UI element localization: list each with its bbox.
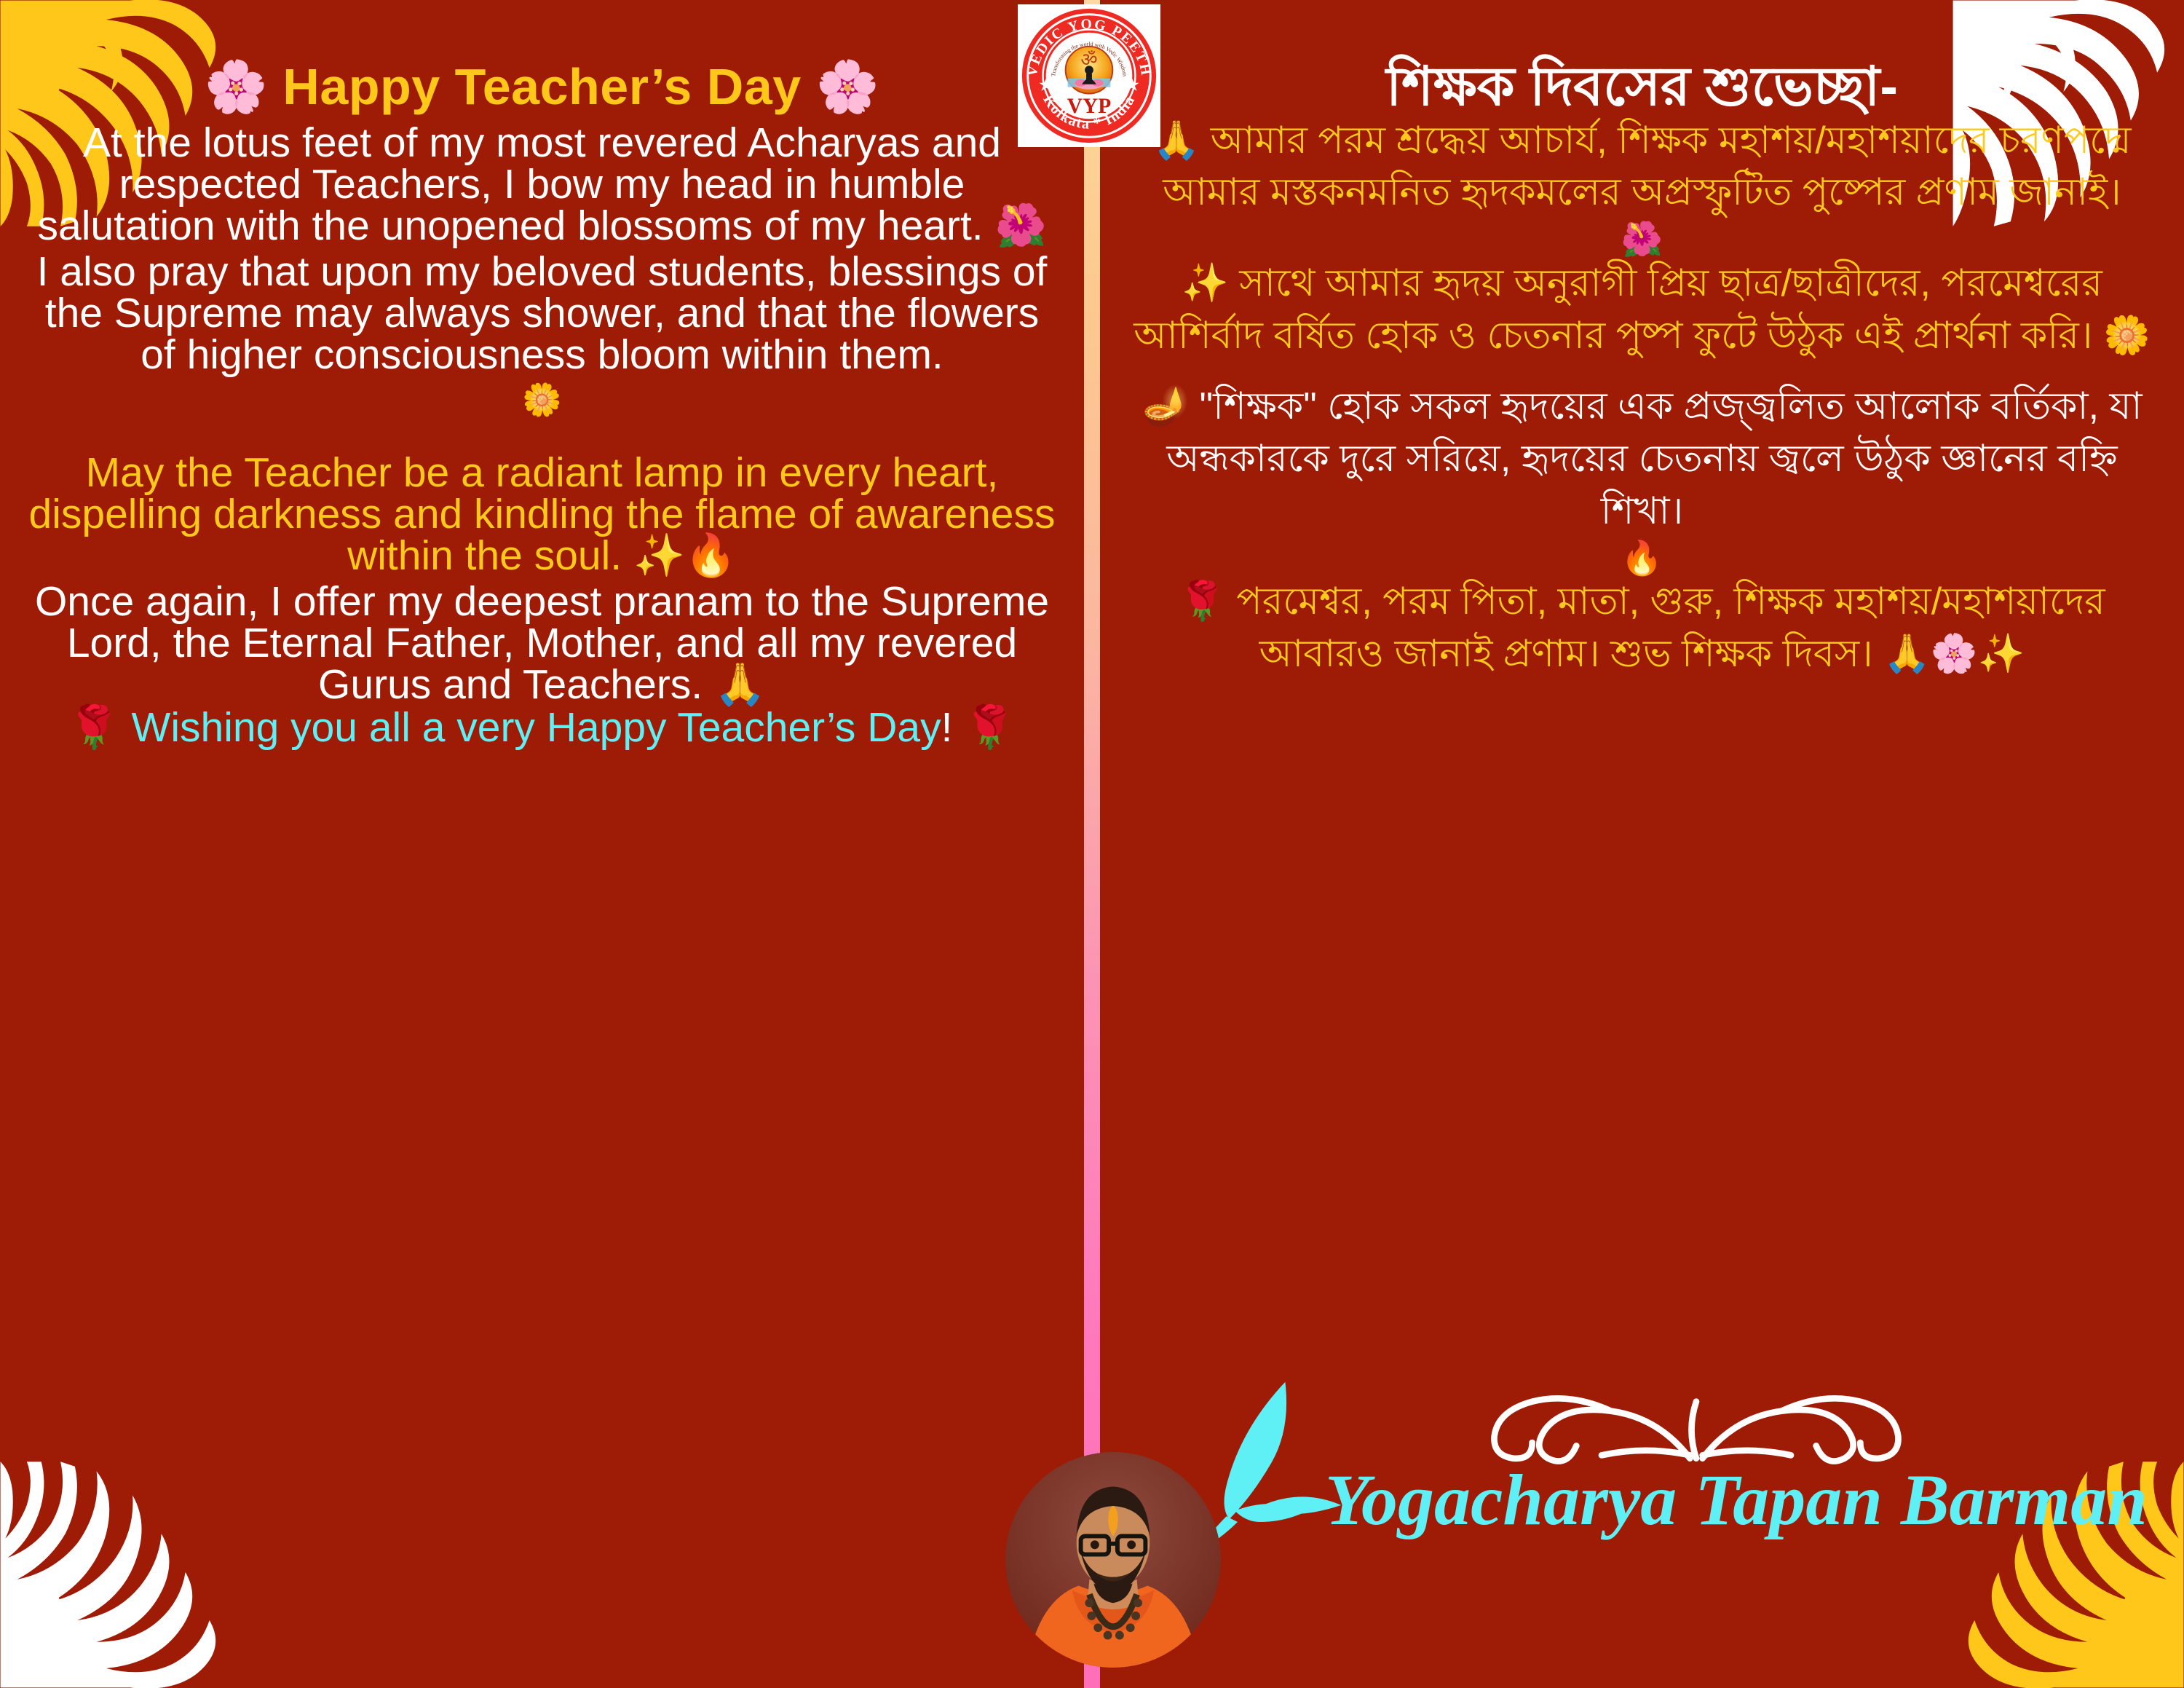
wishing-text: 🌹 Wishing you all a very Happy Teacher’s… xyxy=(68,704,941,751)
english-paragraph-1: At the lotus feet of my most revered Ach… xyxy=(25,122,1059,247)
english-paragraph-3: May the Teacher be a radiant lamp in eve… xyxy=(25,452,1059,577)
decorative-flourish xyxy=(1369,1376,2024,1471)
bengali-paragraph-1: 🙏 আমার পরম শ্রদ্ধেয় আচার্য, শিক্ষক মহাশ… xyxy=(1122,115,2162,220)
vedic-yog-peeth-logo: VEDIC YOG PEETH Kolkata * India Transfor… xyxy=(1018,4,1160,147)
english-column: 🌸 Happy Teacher’s Day 🌸 At the lotus fee… xyxy=(0,0,1084,1688)
bengali-paragraph-2: ✨ সাথে আমার হৃদয় অনুরাগী প্রিয় ছাত্র/ছ… xyxy=(1122,258,2162,363)
signature-name: Yogacharya Tapan Barman xyxy=(1325,1464,2184,1537)
fire-icon: 🔥 xyxy=(1122,540,2162,577)
bengali-paragraph-4: 🌹 পরমেশ্বর, পরম পিতা, মাতা, গুরু, শিক্ষক… xyxy=(1122,576,2162,681)
page-title-english: 🌸 Happy Teacher’s Day 🌸 xyxy=(25,0,1059,112)
english-paragraph-4: Once again, I offer my deepest pranam to… xyxy=(25,581,1059,706)
greeting-card: 🌸 Happy Teacher’s Day 🌸 At the lotus fee… xyxy=(0,0,2184,1688)
avatar xyxy=(1005,1452,1221,1668)
bengali-paragraph-3: 🪔 "শিক্ষক" হোক সকল হৃদয়ের এক প্রজ্জ্বলি… xyxy=(1122,381,2162,537)
blossom-divider-icon: 🌼 xyxy=(25,380,1059,420)
hibiscus-icon: 🌺 xyxy=(1122,221,2162,258)
svg-text:VYP: VYP xyxy=(1067,95,1111,118)
english-paragraph-5: 🌹 Wishing you all a very Happy Teacher’s… xyxy=(25,707,1059,749)
cherry-blossom-icon-right: 🌸 xyxy=(816,58,880,115)
cherry-blossom-icon-left: 🌸 xyxy=(205,58,269,115)
wishing-exclamation: ! xyxy=(941,704,953,751)
english-paragraph-2: I also pray that upon my beloved student… xyxy=(25,251,1059,376)
page-title-bengali: শিক্ষক দিবসের শুভেচ্ছা- xyxy=(1122,0,2162,115)
vertical-divider xyxy=(1084,0,1100,1688)
title-english-text: Happy Teacher’s Day xyxy=(282,58,801,115)
rose-icon: 🌹 xyxy=(964,704,1016,751)
signature-block: Yogacharya Tapan Barman xyxy=(1201,1369,2184,1588)
